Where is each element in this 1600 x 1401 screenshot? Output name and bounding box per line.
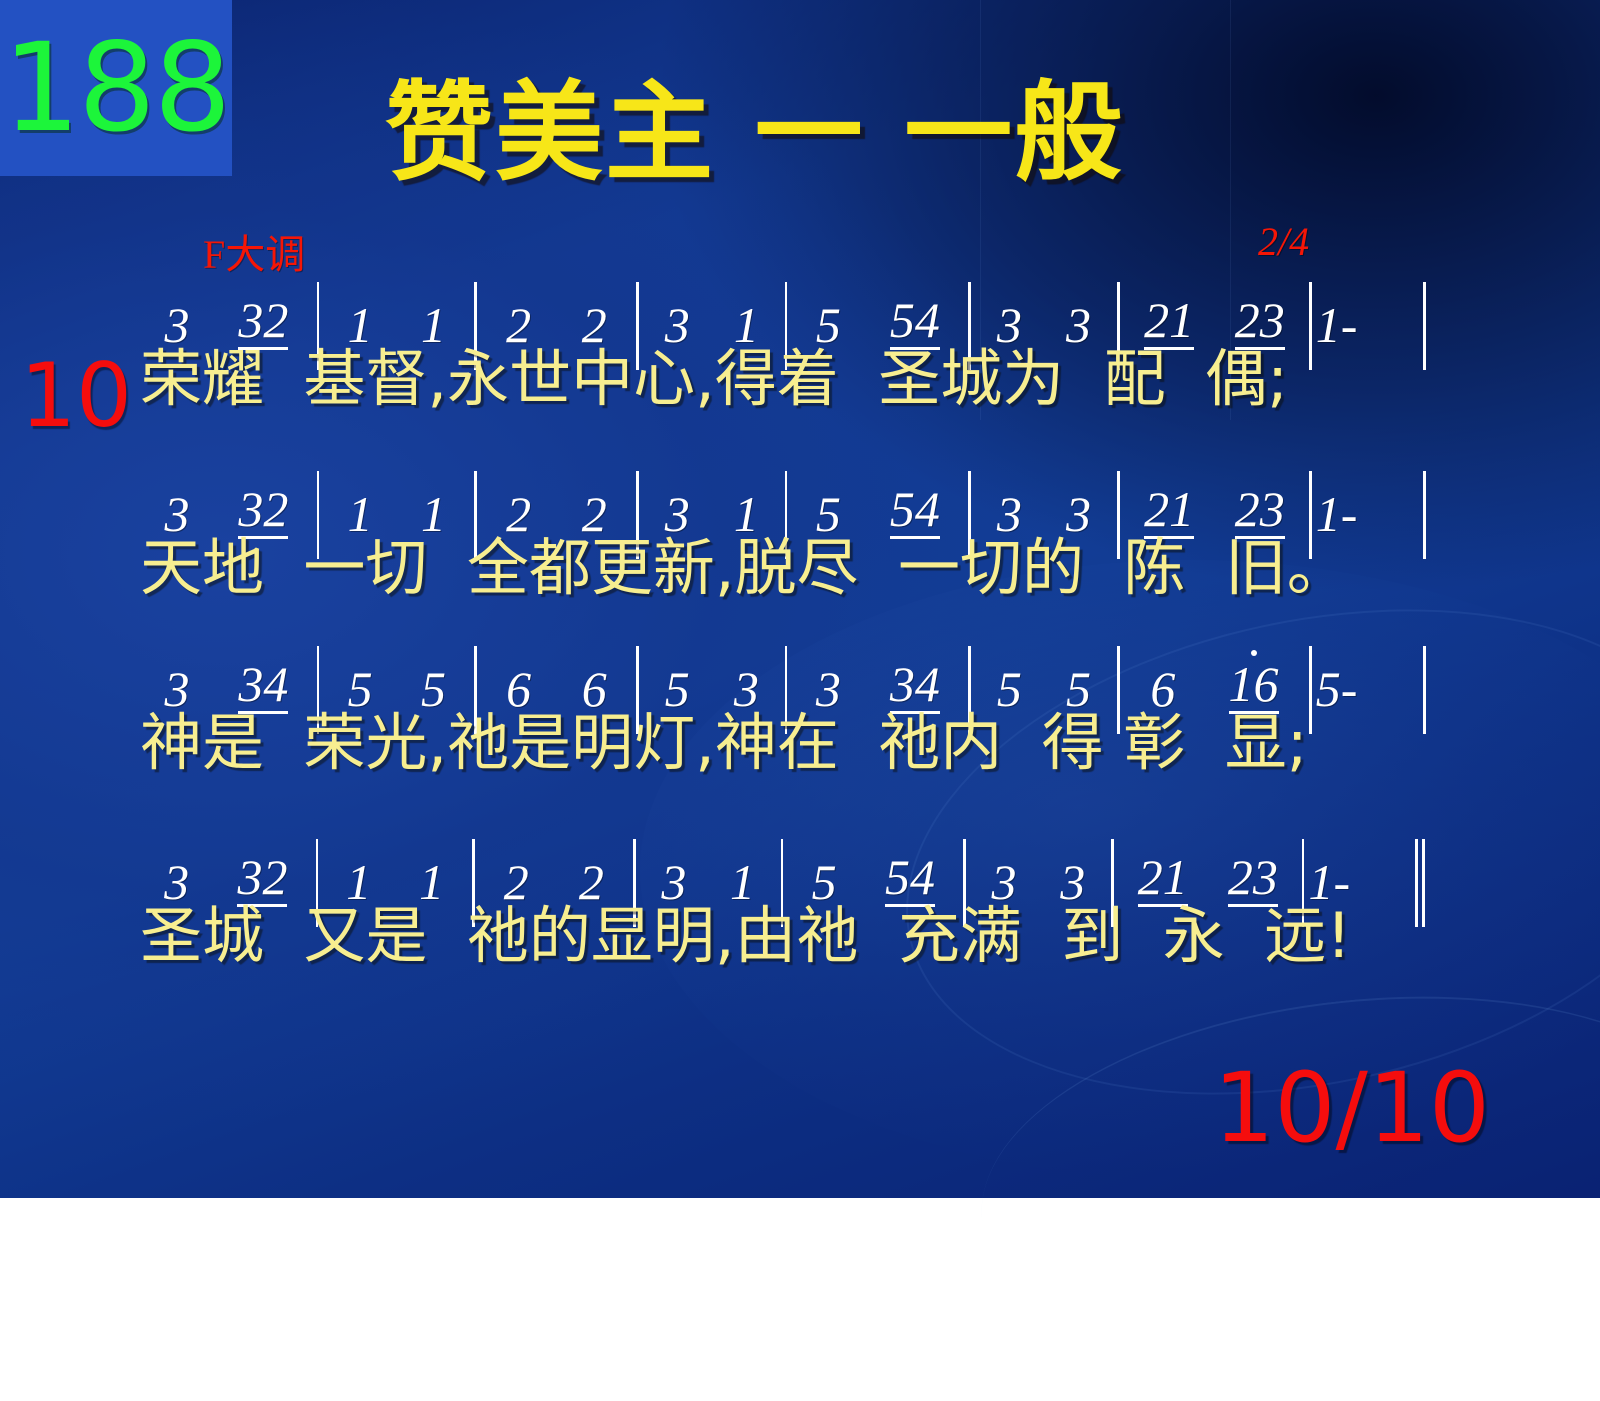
- page-counter: 10/10: [1213, 1060, 1490, 1156]
- music-system-1: 3321122315543321231- 荣耀 基督,永世中心,得着 圣城为 配…: [140, 288, 1430, 350]
- background-swoosh-3: [963, 961, 1600, 1400]
- lyrics-line-1: 荣耀 基督,永世中心,得着 圣城为 配 偶;: [140, 344, 1440, 413]
- music-system-2: 3321122315543321231- 天地 一切 全都更新,脱尽 一切的 陈…: [140, 477, 1430, 539]
- notation-row-2: 3321122315543321231-: [140, 477, 1430, 539]
- notation-row-3: 334556653334556165-: [140, 652, 1430, 714]
- measure: 5-: [1316, 664, 1420, 714]
- hymn-number-badge: 188: [0, 0, 232, 176]
- music-system-3: 334556653334556165- 神是 荣光,祂是明灯,神在 祂内 得 彰…: [140, 652, 1430, 714]
- measure: 1-: [1316, 300, 1420, 350]
- key-signature: F大调: [203, 222, 305, 280]
- lyrics-line-4: 圣城 又是 祂的显明,由祂 充满 到 永 远!: [140, 901, 1440, 970]
- lyrics-line-3: 神是 荣光,祂是明灯,神在 祂内 得 彰 显;: [140, 708, 1440, 777]
- hymn-slide: 188 赞美主 一 一般 F大调 2/4 10 3321122315543321…: [0, 0, 1600, 1198]
- verse-number: 10: [20, 352, 132, 440]
- notation-row-1: 3321122315543321231-: [140, 288, 1430, 350]
- page-title: 赞美主 一 一般: [385, 78, 1215, 190]
- note-group: 5-: [1316, 664, 1358, 714]
- note-value: 1-: [1316, 300, 1358, 350]
- lyrics-line-2: 天地 一切 全都更新,脱尽 一切的 陈 旧。: [140, 533, 1440, 602]
- music-system-4: 3321122315543321231- 圣城 又是 祂的显明,由祂 充满 到 …: [140, 845, 1430, 907]
- notation-row-4: 3321122315543321231-: [140, 845, 1430, 907]
- note-group: 1-: [1316, 300, 1358, 350]
- hymn-number: 188: [3, 27, 230, 149]
- time-signature: 2/4: [1258, 218, 1309, 265]
- note-value: 5-: [1316, 664, 1358, 714]
